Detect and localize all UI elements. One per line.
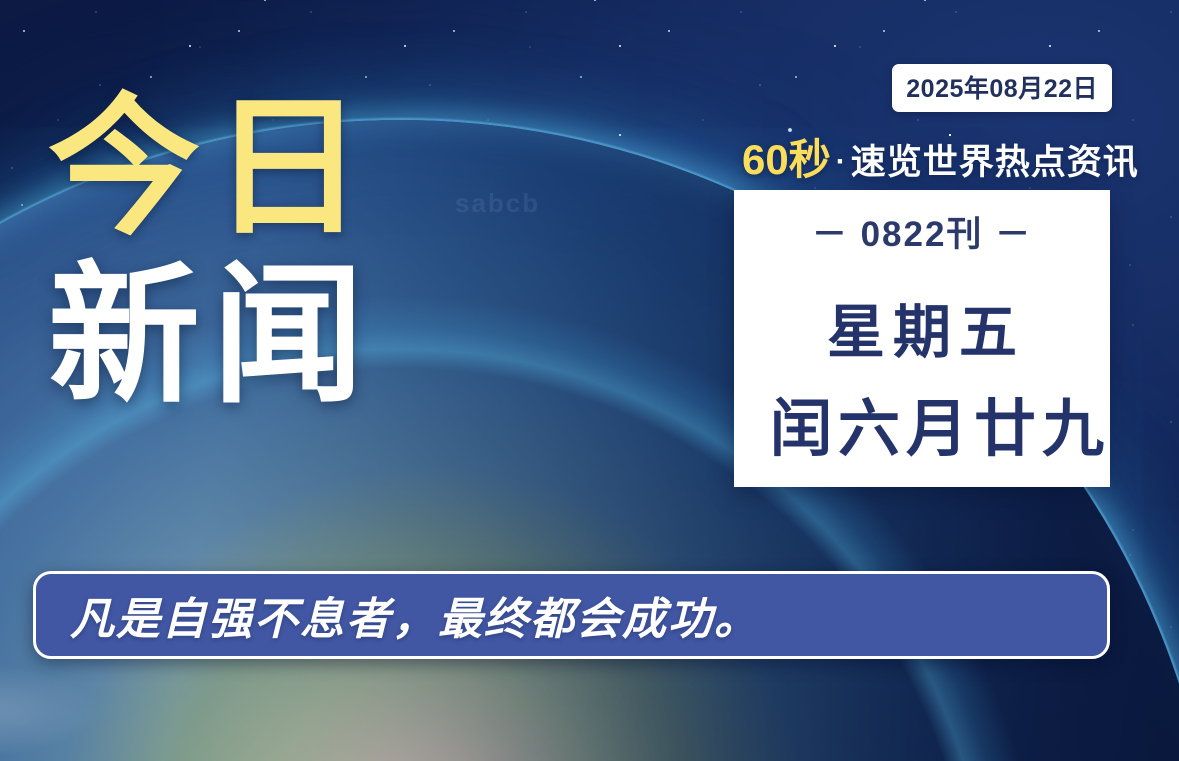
tagline-separator-dot: · xyxy=(831,145,851,178)
quote-text: 凡是自强不息者，最终都会成功。 xyxy=(36,583,760,647)
quote-bar: 凡是自强不息者，最终都会成功。 xyxy=(33,571,1110,659)
headline-line-news: 新闻 xyxy=(48,260,376,412)
tagline-seconds: 60秒 xyxy=(742,136,831,183)
headline: 今日 新闻 xyxy=(48,92,376,412)
headline-line-today: 今日 xyxy=(48,92,376,244)
tagline: 60秒·速览世界热点资讯 xyxy=(742,139,1139,181)
weekday-label: 星期五 xyxy=(734,285,1110,369)
date-badge: 2025年08月22日 xyxy=(892,64,1112,112)
issue-number: － 0822刊 － xyxy=(734,206,1110,257)
date-info-card: － 0822刊 － 星期五 xyxy=(734,190,1110,487)
news-poster: sabcb 今日 新闻 2025年08月22日 60秒·速览世界热点资讯 － 0… xyxy=(0,0,1179,761)
tagline-text: 速览世界热点资讯 xyxy=(851,143,1139,182)
